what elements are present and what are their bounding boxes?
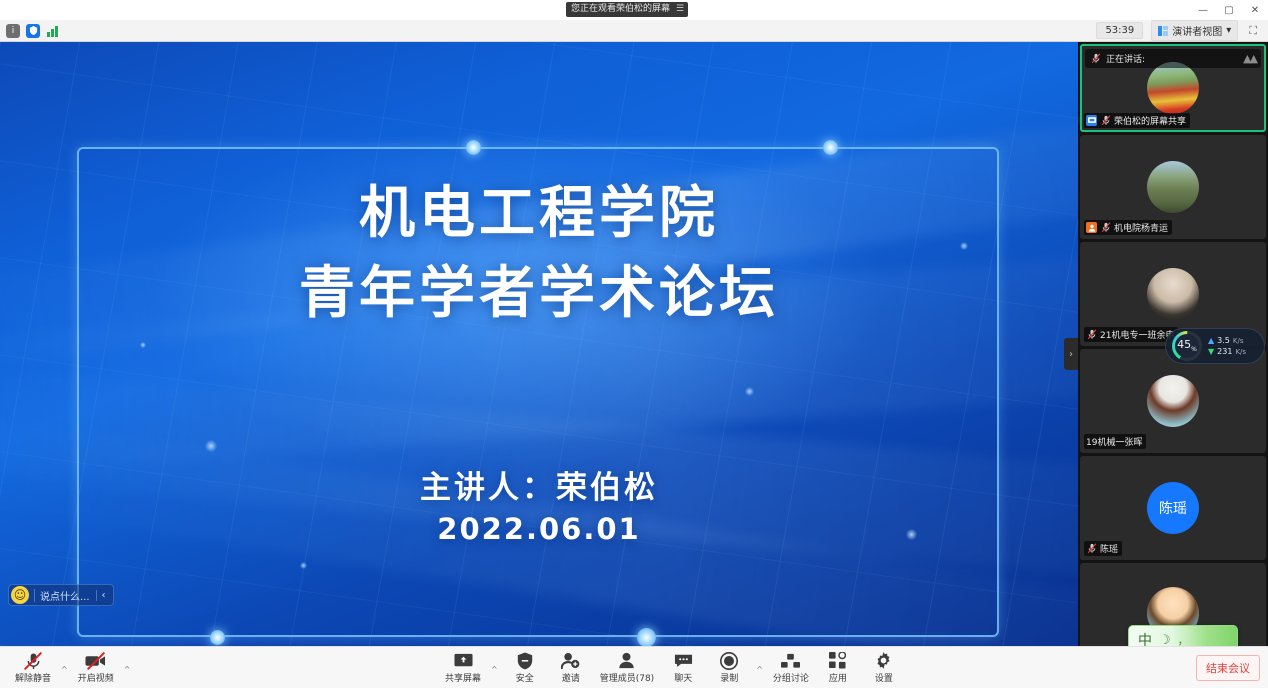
mic-muted-icon <box>1090 53 1101 64</box>
toolbar-label: 开启视频 <box>78 671 114 684</box>
record-button[interactable]: 录制 <box>707 649 751 686</box>
participant-tile[interactable]: 正在讲话: ▲▲ 荣伯松的屏幕共享 <box>1080 44 1266 132</box>
fullscreen-icon[interactable]: ⛶ <box>1246 24 1260 38</box>
chat-input-placeholder[interactable]: 说点什么... <box>40 588 96 603</box>
download-rate-row: ▼ 231 K/s <box>1208 347 1246 356</box>
end-meeting-button[interactable]: 结束会议 <box>1196 655 1260 681</box>
security-button[interactable]: 安全 <box>503 649 547 686</box>
unmute-button[interactable]: 解除静音 <box>10 649 56 686</box>
stage-chat-input-bar[interactable]: ☺ 说点什么... ‹ <box>8 584 114 606</box>
toolbar-label: 安全 <box>516 671 534 684</box>
chat-divider <box>34 589 35 602</box>
toolbar-left-group: 解除静音 ^ 开启视频 ^ <box>0 649 133 686</box>
download-rate-unit: K/s <box>1235 348 1246 356</box>
share-screen-button[interactable]: 共享屏幕 <box>440 649 486 686</box>
record-options-caret[interactable]: ^ <box>753 665 766 674</box>
slide-title-line-2: 青年学者学术论坛 <box>0 254 1078 334</box>
breakout-rooms-button[interactable]: 分组讨论 <box>768 649 814 686</box>
rail-collapse-handle[interactable]: › <box>1064 338 1078 370</box>
download-rate-value: 231 <box>1217 347 1232 356</box>
arrow-up-icon: ▲ <box>1208 336 1214 345</box>
meeting-toolbar: 解除静音 ^ 开启视频 ^ 共享屏幕 ^ <box>0 646 1268 688</box>
chat-button[interactable]: 聊天 <box>661 649 705 686</box>
speaker-view-icon <box>1158 26 1168 36</box>
speaking-label: 正在讲话: <box>1106 52 1145 65</box>
info-icon[interactable]: i <box>6 24 20 38</box>
slide-frame-dot <box>637 628 656 646</box>
shield-icon[interactable] <box>26 24 40 38</box>
view-mode-selector[interactable]: 演讲者视图 ▾ <box>1151 20 1238 41</box>
upload-rate-unit: K/s <box>1233 337 1244 345</box>
mic-muted-icon <box>1100 115 1111 126</box>
apps-button[interactable]: 应用 <box>816 649 860 686</box>
participant-tile[interactable]: 机电院杨青运 <box>1080 135 1266 239</box>
zoom-meeting-window: 您正在观看荣伯松的屏幕 ☰ — ▢ ✕ i 53:39 演讲者视图 ▾ ⛶ <box>0 0 1268 688</box>
screen-share-icon <box>1086 115 1097 126</box>
toolbar-label: 分组讨论 <box>773 671 809 684</box>
toolbar-label: 录制 <box>720 671 738 684</box>
chevron-left-icon[interactable]: ‹ <box>96 590 111 601</box>
avatar <box>1147 375 1199 427</box>
participant-name: 19机械一张晖 <box>1086 435 1142 448</box>
chevron-down-icon: ▾ <box>1226 25 1231 36</box>
slide-date: 2022.06.01 <box>0 512 1078 546</box>
invite-person-icon <box>561 651 580 670</box>
shared-screen-stage[interactable]: 机电工程学院 青年学者学术论坛 主讲人：荣伯松 2022.06.01 ☺ 说点什… <box>0 42 1078 646</box>
upload-rate-value: 3.5 <box>1217 336 1230 345</box>
participant-name: 荣伯松的屏幕共享 <box>1114 114 1186 127</box>
toolbar-label: 解除静音 <box>15 671 51 684</box>
presentation-slide: 机电工程学院 青年学者学术论坛 主讲人：荣伯松 2022.06.01 <box>0 42 1078 646</box>
participants-icon <box>618 651 635 670</box>
toolbar-label: 邀请 <box>562 671 580 684</box>
participant-name-bar: 机电院杨青运 <box>1084 220 1172 235</box>
audio-options-caret[interactable]: ^ <box>58 665 71 674</box>
speaking-indicator-bar: 正在讲话: ▲▲ <box>1085 49 1261 68</box>
participant-name: 21机电专一班余申 <box>1100 328 1174 341</box>
meeting-sub-toolbar: i 53:39 演讲者视图 ▾ ⛶ <box>0 20 1268 42</box>
slide-frame-dot <box>210 630 225 645</box>
avatar: 陈瑶 <box>1147 482 1199 534</box>
meeting-controls-right: 53:39 演讲者视图 ▾ ⛶ <box>1096 20 1268 41</box>
toolbar-label: 管理成员(78) <box>600 671 654 684</box>
upload-rate-row: ▲ 3.5 K/s <box>1208 336 1246 345</box>
participant-name-bar: 陈瑶 <box>1084 541 1122 556</box>
arrow-down-icon: ▼ <box>1208 347 1214 356</box>
invite-button[interactable]: 邀请 <box>549 649 593 686</box>
participant-tile[interactable]: 陈瑶 陈瑶 <box>1080 456 1266 560</box>
toolbar-center-group: 共享屏幕 ^ 安全 邀请 管理成员(78) <box>440 649 906 686</box>
signal-bars-icon[interactable] <box>46 24 60 38</box>
slide-title-line-1: 机电工程学院 <box>0 174 1078 254</box>
participant-name: 陈瑶 <box>1100 542 1118 555</box>
audio-wave-icon: ▲▲ <box>1243 52 1256 65</box>
participant-name-bar: 19机械一张晖 <box>1084 434 1146 449</box>
mic-muted-icon <box>1086 329 1097 340</box>
toolbar-label: 应用 <box>829 671 847 684</box>
mic-muted-icon <box>1086 543 1097 554</box>
window-controls: — ▢ ✕ <box>1190 0 1268 20</box>
chat-bubble-icon <box>674 651 693 670</box>
slide-frame-dot <box>466 140 481 155</box>
share-screen-icon <box>454 651 473 670</box>
maximize-button[interactable]: ▢ <box>1216 0 1242 20</box>
slide-frame-dot <box>823 140 838 155</box>
toolbar-label: 共享屏幕 <box>445 671 481 684</box>
network-percent: 45% <box>1177 338 1197 353</box>
apps-icon <box>829 651 846 670</box>
network-quality-gauge: 45% <box>1172 331 1202 361</box>
close-button[interactable]: ✕ <box>1242 0 1268 20</box>
camera-muted-icon <box>85 651 106 670</box>
toolbar-label: 聊天 <box>674 671 692 684</box>
slide-speaker-name: 主讲人：荣伯松 <box>0 462 1078 507</box>
meeting-timer: 53:39 <box>1096 22 1143 39</box>
settings-gear-icon <box>875 651 892 670</box>
host-badge-icon <box>1086 222 1097 233</box>
emoji-icon[interactable]: ☺ <box>11 586 29 604</box>
minimize-button[interactable]: — <box>1190 0 1216 20</box>
sharing-notice-text: 您正在观看荣伯松的屏幕 <box>571 2 670 17</box>
share-options-caret[interactable]: ^ <box>488 665 501 674</box>
mic-muted-icon <box>1100 222 1111 233</box>
extension-icon-group: i <box>0 24 60 38</box>
sharing-menu-icon[interactable]: ☰ <box>676 2 683 17</box>
slide-title: 机电工程学院 青年学者学术论坛 <box>0 174 1078 333</box>
avatar <box>1147 268 1199 320</box>
participant-tile[interactable]: 19机械一张晖 <box>1080 349 1266 453</box>
screen-sharing-notice: 您正在观看荣伯松的屏幕 ☰ <box>566 2 688 17</box>
network-stats-overlay[interactable]: 45% ▲ 3.5 K/s ▼ 231 K/s <box>1165 328 1265 364</box>
video-options-caret[interactable]: ^ <box>121 665 134 674</box>
title-bar: 您正在观看荣伯松的屏幕 ☰ — ▢ ✕ <box>0 0 1268 20</box>
participant-name-bar: 21机电专一班余申 <box>1084 327 1178 342</box>
avatar <box>1147 62 1199 114</box>
microphone-muted-icon <box>25 651 42 670</box>
view-mode-label: 演讲者视图 <box>1172 23 1222 38</box>
participant-name: 机电院杨青运 <box>1114 221 1168 234</box>
avatar <box>1147 161 1199 213</box>
participant-name-bar: 荣伯松的屏幕共享 <box>1084 113 1190 128</box>
settings-button[interactable]: 设置 <box>862 649 906 686</box>
record-icon <box>720 651 738 670</box>
toolbar-label: 设置 <box>875 671 893 684</box>
manage-participants-button[interactable]: 管理成员(78) <box>595 649 659 686</box>
security-shield-icon <box>517 651 533 670</box>
start-video-button[interactable]: 开启视频 <box>73 649 119 686</box>
network-rate-rows: ▲ 3.5 K/s ▼ 231 K/s <box>1208 336 1246 356</box>
breakout-rooms-icon <box>781 651 800 670</box>
